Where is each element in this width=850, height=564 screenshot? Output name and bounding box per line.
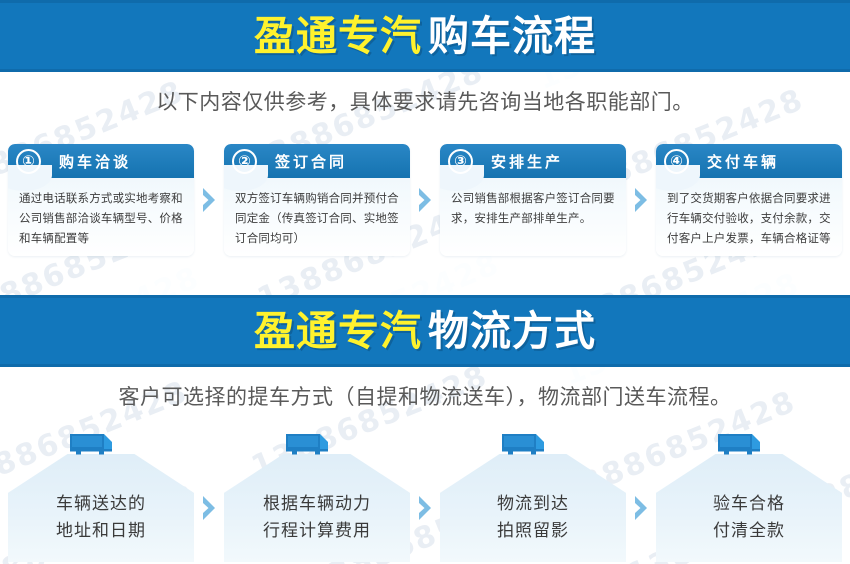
- step-number-badge: ②: [232, 149, 257, 174]
- logistics-card-3[interactable]: 物流到达 拍照留影: [440, 432, 626, 562]
- logistics-label-line1: 根据车辆动力: [224, 491, 410, 519]
- banner-brand-text: 盈通专汽: [254, 12, 422, 60]
- logistics-label: 物流到达 拍照留影: [440, 491, 626, 546]
- chevron-right-icon: [417, 495, 434, 521]
- chevron-right-icon: [417, 187, 434, 213]
- logistics-steps-row: 车辆送达的 地址和日期 根据车辆动力 行程计算费用: [8, 432, 842, 562]
- step-title: 安排生产: [491, 151, 563, 172]
- logistics-label: 根据车辆动力 行程计算费用: [224, 491, 410, 546]
- step-number-badge: ①: [16, 149, 41, 174]
- chevron-right-icon: [633, 187, 650, 213]
- banner-title-text: 购车流程: [428, 12, 596, 60]
- chevron-right-icon: [201, 187, 218, 213]
- truck-icon: [68, 432, 116, 458]
- logistics-label-line2: 拍照留影: [440, 518, 626, 546]
- step-card-1[interactable]: ① 购车洽谈 通过电话联系方式或实地考察和公司销售部洽谈车辆型号、价格和车辆配置…: [8, 144, 194, 256]
- step-title: 签订合同: [275, 151, 347, 172]
- banner-inner: 盈通专汽购车流程: [254, 16, 596, 57]
- logistics-caption: 客户可选择的提车方式（自提和物流送车），物流部门送车流程。: [0, 381, 850, 411]
- logistics-label-line2: 行程计算费用: [224, 518, 410, 546]
- truck-icon: [500, 432, 548, 458]
- step-title: 交付车辆: [707, 151, 779, 172]
- logistics-arrow-1: [194, 454, 224, 562]
- banner-brand-text: 盈通专汽: [254, 307, 422, 355]
- step-body: 双方签订车辆购销合同并预付合同定金（传真签订合同、实地签订合同均可）: [224, 178, 410, 256]
- step-card-4[interactable]: ④ 交付车辆 到了交货期客户依据合同要求进行车辆交付验收，支付余款，交付客户上户…: [656, 144, 842, 256]
- banner-title-text: 物流方式: [428, 307, 596, 355]
- step-card-3[interactable]: ③ 安排生产 公司销售部根据客户签订合同要求，安排生产部排单生产。: [440, 144, 626, 256]
- step-arrow-3: [626, 144, 656, 256]
- truck-icon: [284, 432, 332, 458]
- logistics-label: 验车合格 付清全款: [656, 491, 842, 546]
- promo-page: 13886852428 13886852428 13886852428 1388…: [0, 0, 850, 564]
- logistics-label-line1: 车辆送达的: [8, 491, 194, 519]
- purchase-process-caption: 以下内容仅供参考，具体要求请先咨询当地各职能部门。: [0, 86, 850, 116]
- step-header-2: ② 签订合同: [224, 144, 410, 178]
- logistics-card-1[interactable]: 车辆送达的 地址和日期: [8, 432, 194, 562]
- logistics-label-line1: 物流到达: [440, 491, 626, 519]
- banner-inner: 盈通专汽物流方式: [254, 311, 596, 352]
- purchase-process-banner: 盈通专汽购车流程: [0, 0, 850, 72]
- logistics-card-2[interactable]: 根据车辆动力 行程计算费用: [224, 432, 410, 562]
- step-header-1: ① 购车洽谈: [8, 144, 194, 178]
- step-arrow-2: [410, 144, 440, 256]
- step-number-badge: ③: [448, 149, 473, 174]
- logistics-card-4[interactable]: 验车合格 付清全款: [656, 432, 842, 562]
- step-body: 通过电话联系方式或实地考察和公司销售部洽谈车辆型号、价格和车辆配置等: [8, 178, 194, 256]
- logistics-arrow-2: [410, 454, 440, 562]
- logistics-label-line2: 地址和日期: [8, 518, 194, 546]
- step-header-4: ④ 交付车辆: [656, 144, 842, 178]
- step-arrow-1: [194, 144, 224, 256]
- step-card-2[interactable]: ② 签订合同 双方签订车辆购销合同并预付合同定金（传真签订合同、实地签订合同均可…: [224, 144, 410, 256]
- step-header-3: ③ 安排生产: [440, 144, 626, 178]
- logistics-arrow-3: [626, 454, 656, 562]
- step-body: 到了交货期客户依据合同要求进行车辆交付验收，支付余款，交付客户上户发票，车辆合格…: [656, 178, 842, 256]
- logistics-label: 车辆送达的 地址和日期: [8, 491, 194, 546]
- chevron-right-icon: [201, 495, 218, 521]
- truck-icon: [716, 432, 764, 458]
- step-number-badge: ④: [664, 149, 689, 174]
- step-title: 购车洽谈: [59, 151, 131, 172]
- logistics-banner: 盈通专汽物流方式: [0, 295, 850, 367]
- logistics-label-line2: 付清全款: [656, 518, 842, 546]
- purchase-steps-row: ① 购车洽谈 通过电话联系方式或实地考察和公司销售部洽谈车辆型号、价格和车辆配置…: [8, 144, 842, 256]
- logistics-label-line1: 验车合格: [656, 491, 842, 519]
- chevron-right-icon: [633, 495, 650, 521]
